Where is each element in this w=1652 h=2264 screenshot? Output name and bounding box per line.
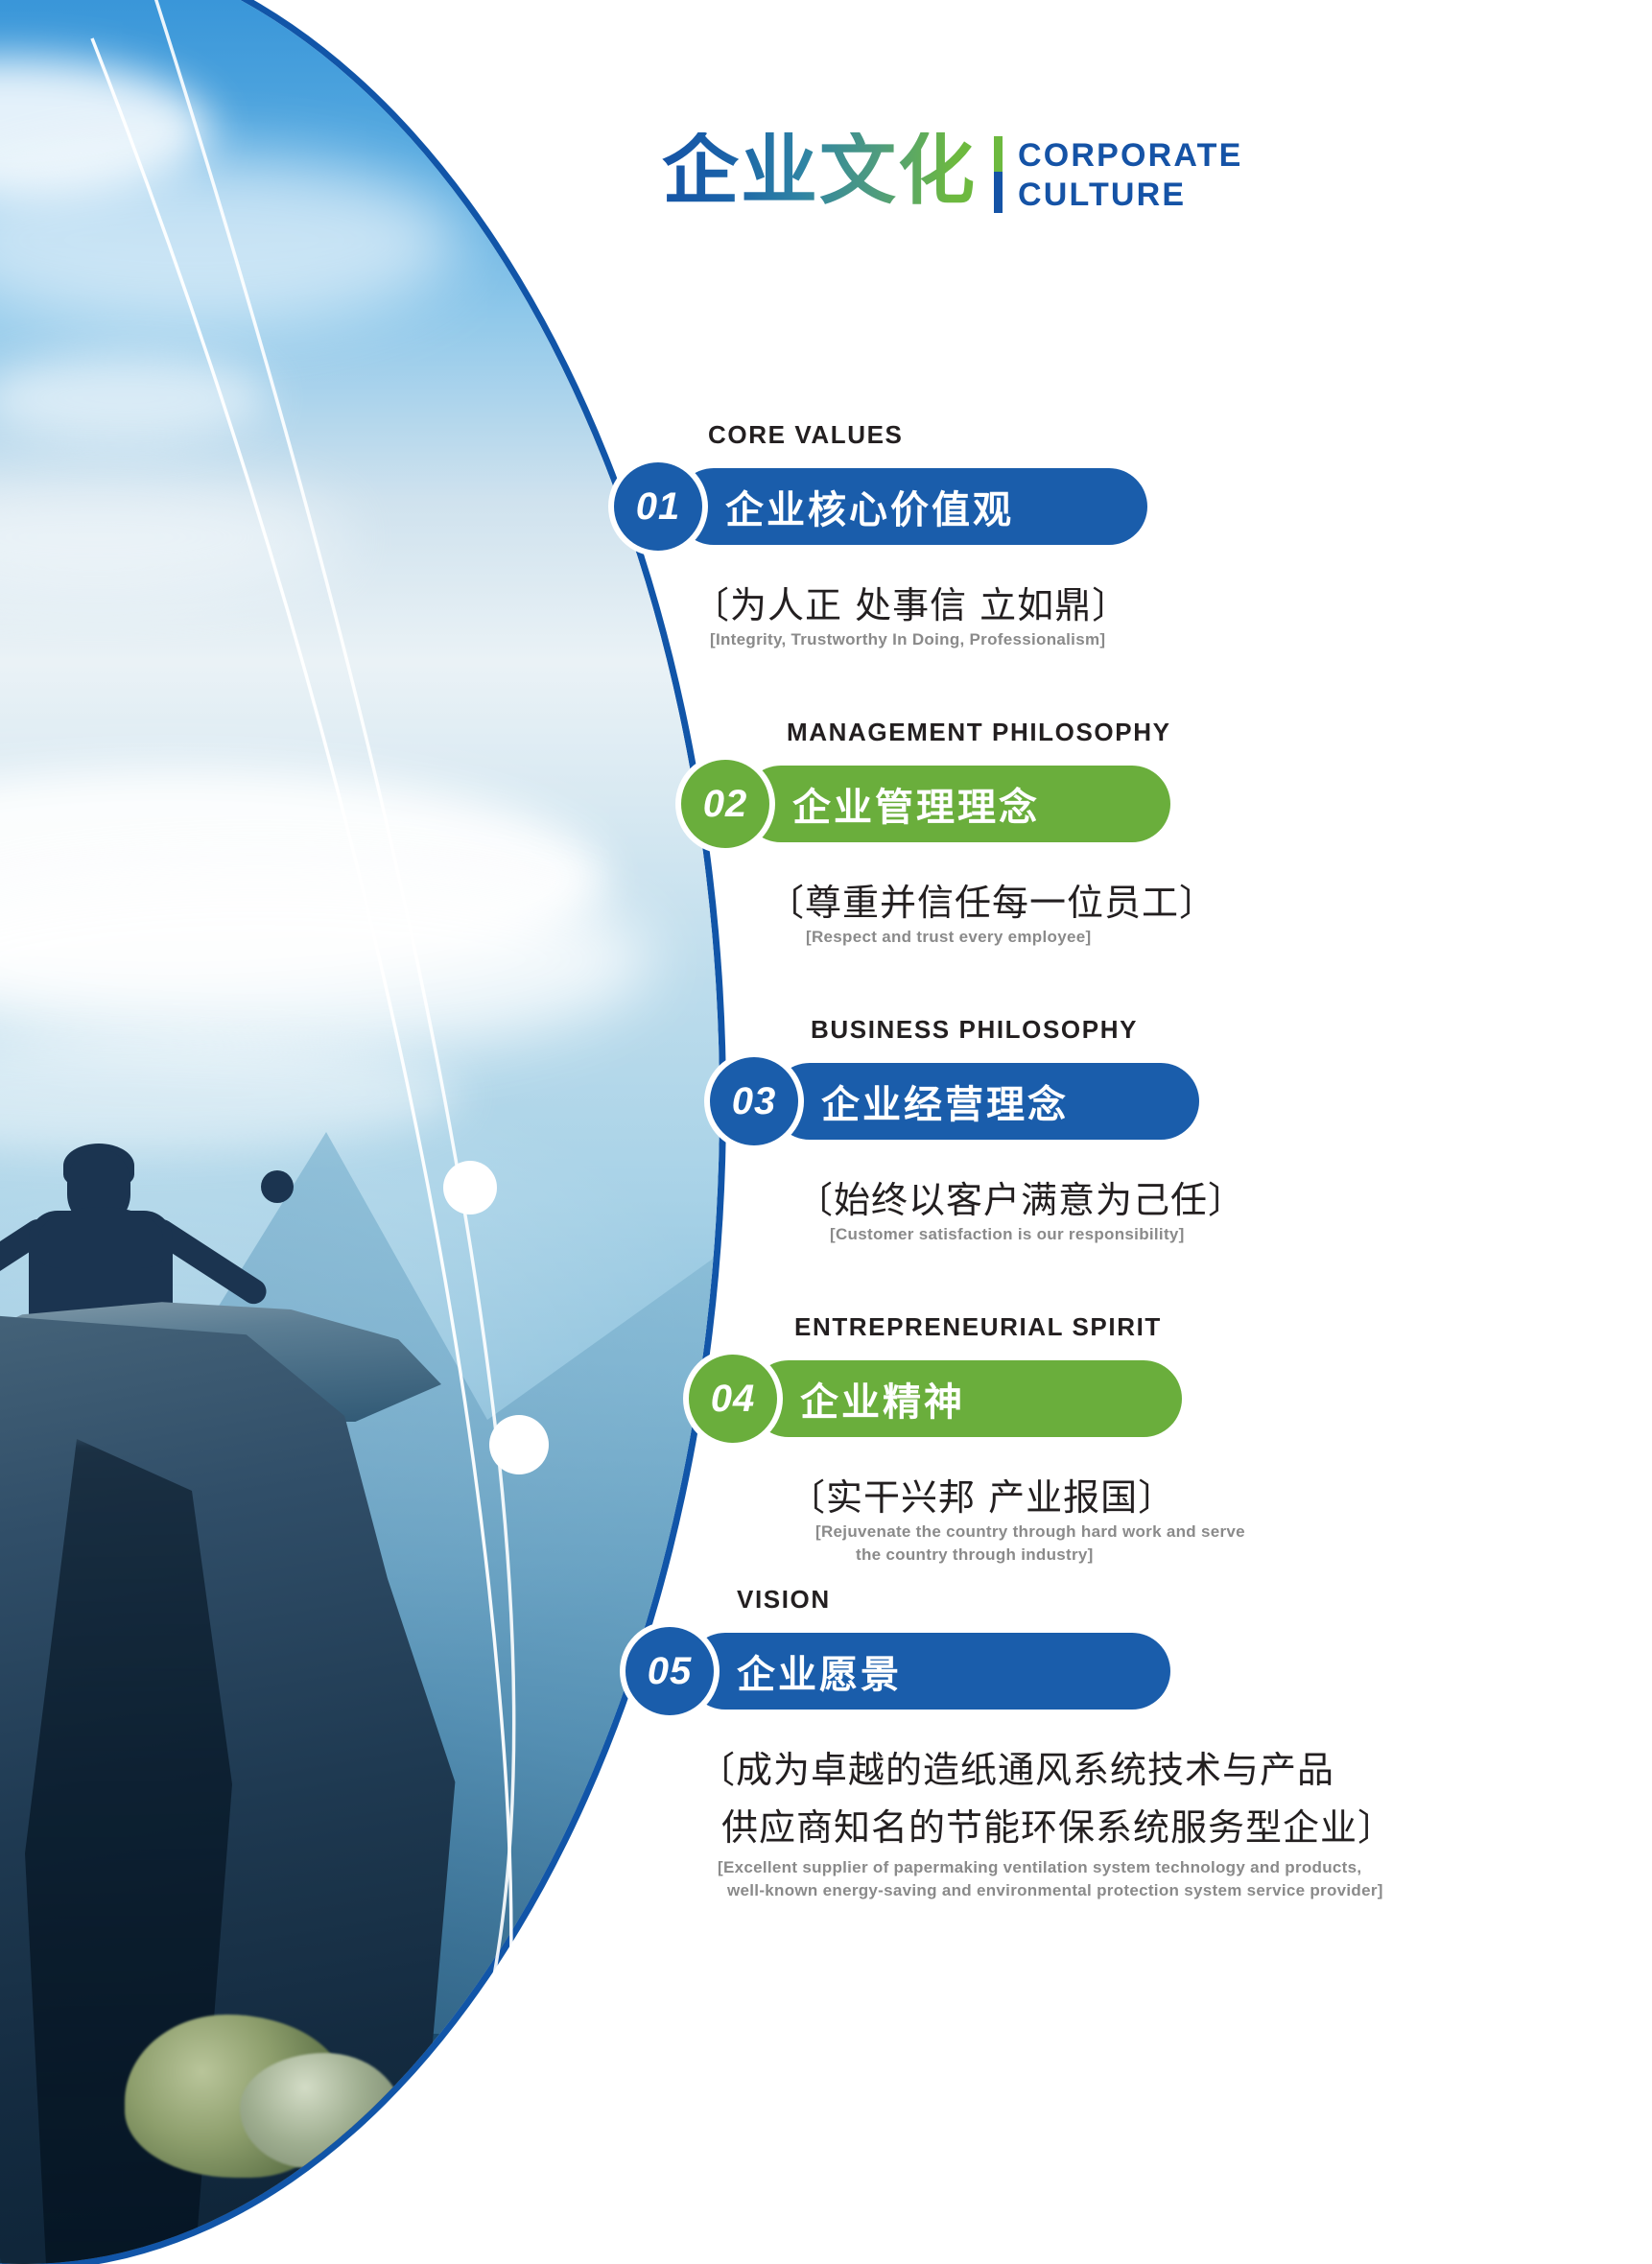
- title-en-line-1: CORPORATE: [1018, 136, 1243, 176]
- page-header: 企业文化 CORPORATE CULTURE: [662, 132, 1243, 216]
- item-headline-bubble: 企业精神: [750, 1360, 1182, 1437]
- item-slogan-en: [Customer satisfaction is our responsibi…: [830, 1222, 1185, 1247]
- item-number-badge: 05: [625, 1627, 714, 1715]
- item-slogan-en: [Respect and trust every employee]: [806, 925, 1091, 950]
- hero-image-ellipse: [0, 0, 720, 2264]
- item-slogan-en-2: the country through industry]: [856, 1543, 1094, 1568]
- page-title-en: CORPORATE CULTURE: [1018, 132, 1243, 216]
- content-panel: 企业文化 CORPORATE CULTURE CORE VALUES 01 企业…: [633, 0, 1652, 2198]
- item-eyebrow: BUSINESS PHILOSOPHY: [811, 1015, 1138, 1045]
- item-number-badge: 01: [614, 462, 702, 551]
- item-slogan-en: [Integrity, Trustworthy In Doing, Profes…: [710, 627, 1105, 652]
- title-divider: [994, 136, 1003, 213]
- item-slogan-cn: 〔成为卓越的造纸通风系统技术与产品: [698, 1740, 1334, 1793]
- page-title-cn: 企业文化: [662, 132, 977, 209]
- item-slogan-en-2: well-known energy-saving and environment…: [727, 1878, 1383, 1903]
- item-slogan-cn: 〔为人正 处事信 立如鼎〕: [693, 576, 1129, 628]
- item-slogan-cn: 〔尊重并信任每一位员工〕: [767, 873, 1216, 926]
- item-slogan-en: [Excellent supplier of papermaking venti…: [718, 1855, 1361, 1880]
- item-number-badge: 04: [689, 1355, 777, 1443]
- item-headline-bubble: 企业愿景: [687, 1633, 1170, 1710]
- item-number-badge: 03: [710, 1057, 798, 1145]
- item-slogan-cn: 〔实干兴邦 产业报国〕: [789, 1468, 1175, 1521]
- item-number-badge: 02: [681, 760, 769, 848]
- item-eyebrow: ENTREPRENEURIAL SPIRIT: [794, 1312, 1162, 1342]
- item-eyebrow: MANAGEMENT PHILOSOPHY: [787, 718, 1171, 747]
- item-eyebrow: VISION: [737, 1585, 831, 1615]
- title-en-line-2: CULTURE: [1018, 176, 1243, 215]
- item-headline-bubble: 企业经营理念: [771, 1063, 1199, 1140]
- item-slogan-cn-2: 供应商知名的节能环保系统服务型企业〕: [721, 1798, 1395, 1851]
- item-eyebrow: CORE VALUES: [708, 420, 903, 450]
- foliage-bush: [240, 2053, 403, 2168]
- item-headline-bubble: 企业管理理念: [743, 766, 1170, 842]
- item-slogan-cn: 〔始终以客户满意为己任〕: [796, 1170, 1245, 1223]
- item-headline-bubble: 企业核心价值观: [675, 468, 1147, 545]
- item-slogan-en: [Rejuvenate the country through hard wor…: [815, 1520, 1245, 1545]
